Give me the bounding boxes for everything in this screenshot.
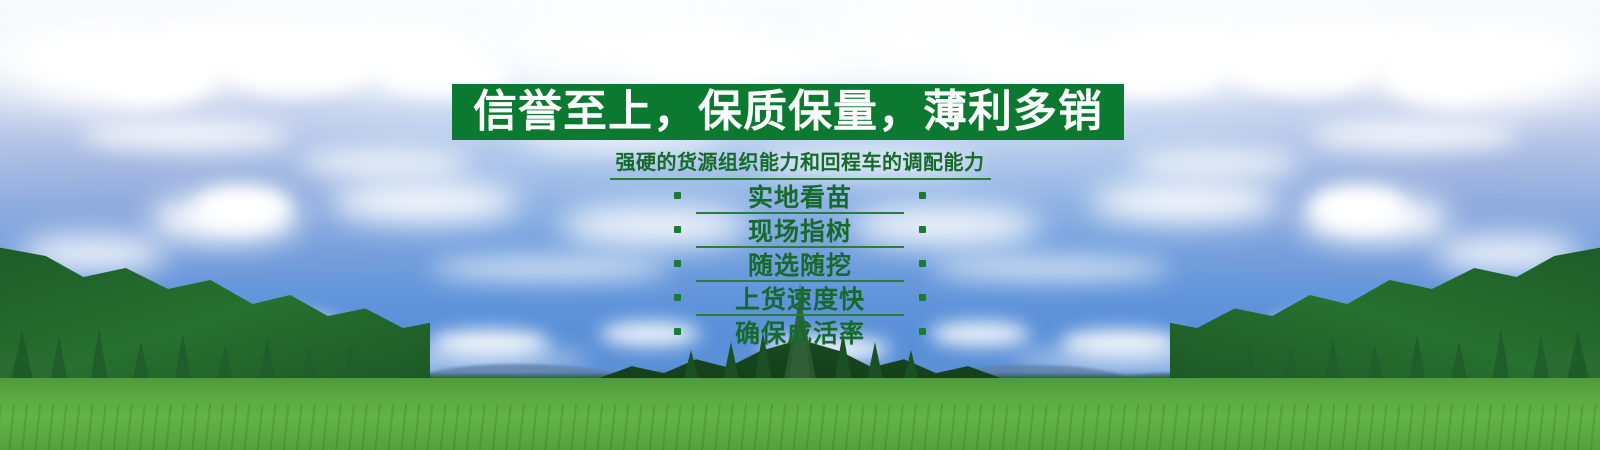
feature-label: 上货速度快 bbox=[735, 287, 865, 312]
bullet-dot-icon bbox=[919, 192, 926, 199]
grass-field bbox=[0, 378, 1600, 450]
feature-item: 实地看苗 bbox=[696, 180, 904, 214]
feature-label: 随选随挖 bbox=[748, 253, 852, 278]
bullet-dot-icon bbox=[674, 294, 681, 301]
bullet-dot-icon bbox=[674, 260, 681, 267]
feature-item: 确保成活率 bbox=[696, 316, 904, 350]
bullet-dot-icon bbox=[674, 192, 681, 199]
feature-item: 现场指树 bbox=[696, 214, 904, 248]
feature-label: 确保成活率 bbox=[735, 321, 865, 346]
bullet-dot-icon bbox=[919, 260, 926, 267]
bullet-dot-icon bbox=[919, 294, 926, 301]
feature-list: 实地看苗 现场指树 随选随挖 上货速度快 确保成活率 bbox=[0, 180, 1600, 350]
feature-label: 现场指树 bbox=[748, 219, 852, 244]
bullet-dot-icon bbox=[919, 226, 926, 233]
feature-label: 实地看苗 bbox=[748, 185, 852, 210]
bullet-dot-icon bbox=[919, 328, 926, 335]
field-furrows bbox=[0, 404, 1600, 450]
bullet-dot-icon bbox=[674, 226, 681, 233]
subtitle-text: 强硬的货源组织能力和回程车的调配能力 bbox=[610, 146, 991, 180]
promo-banner: 信誉至上，保质保量，薄利多销 强硬的货源组织能力和回程车的调配能力 实地看苗 现… bbox=[0, 0, 1600, 450]
bullet-dot-icon bbox=[674, 328, 681, 335]
feature-item: 随选随挖 bbox=[696, 248, 904, 282]
headline-text: 信誉至上，保质保量，薄利多销 bbox=[473, 90, 1103, 134]
feature-item: 上货速度快 bbox=[696, 282, 904, 316]
subtitle-container: 强硬的货源组织能力和回程车的调配能力 bbox=[0, 146, 1600, 180]
headline-banner-bar: 信誉至上，保质保量，薄利多销 bbox=[452, 84, 1124, 140]
